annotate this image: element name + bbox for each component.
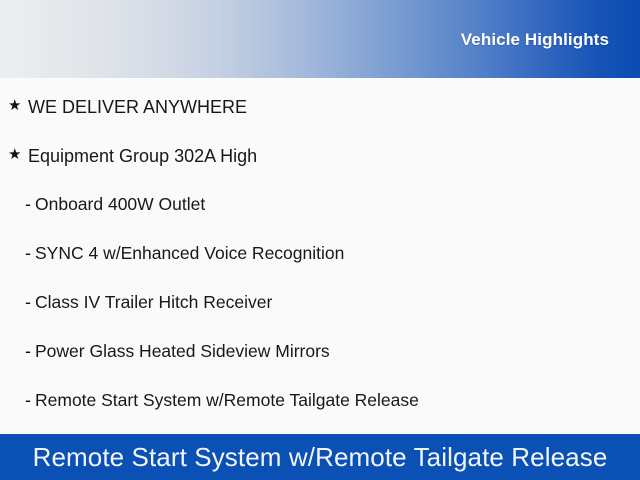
highlight-item-label: Onboard 400W Outlet: [35, 196, 205, 214]
dash-bullet-icon: -: [25, 391, 35, 409]
highlight-item-label: SYNC 4 w/Enhanced Voice Recognition: [35, 245, 344, 263]
highlight-item: -Power Glass Heated Sideview Mirrors: [0, 327, 640, 376]
highlight-item-label: Equipment Group 302A High: [28, 147, 257, 165]
highlights-list: ★WE DELIVER ANYWHERE★Equipment Group 302…: [0, 82, 640, 432]
highlight-item: ★WE DELIVER ANYWHERE: [0, 82, 640, 131]
header-banner: Vehicle Highlights: [0, 0, 640, 78]
highlight-item-label: Class IV Trailer Hitch Receiver: [35, 294, 272, 312]
dash-bullet-icon: -: [25, 244, 35, 262]
highlight-item-label: Power Glass Heated Sideview Mirrors: [35, 343, 330, 361]
star-bullet-icon: ★: [8, 147, 28, 162]
star-bullet-icon: ★: [8, 98, 28, 113]
footer-caption-bar: Remote Start System w/Remote Tailgate Re…: [0, 434, 640, 480]
highlight-item: -Class IV Trailer Hitch Receiver: [0, 278, 640, 327]
highlight-item: ★Equipment Group 302A High: [0, 131, 640, 180]
dash-bullet-icon: -: [25, 342, 35, 360]
highlight-item: -Remote Start System w/Remote Tailgate R…: [0, 376, 640, 425]
highlight-item-label: WE DELIVER ANYWHERE: [28, 98, 247, 116]
page-title: Vehicle Highlights: [461, 30, 609, 50]
highlight-item-label: Remote Start System w/Remote Tailgate Re…: [35, 392, 419, 410]
highlight-item: -Onboard 400W Outlet: [0, 180, 640, 229]
dash-bullet-icon: -: [25, 195, 35, 213]
highlight-item: -SYNC 4 w/Enhanced Voice Recognition: [0, 229, 640, 278]
vehicle-highlights-slide: Vehicle Highlights ★WE DELIVER ANYWHERE★…: [0, 0, 640, 480]
dash-bullet-icon: -: [25, 293, 35, 311]
footer-caption-text: Remote Start System w/Remote Tailgate Re…: [33, 444, 608, 470]
